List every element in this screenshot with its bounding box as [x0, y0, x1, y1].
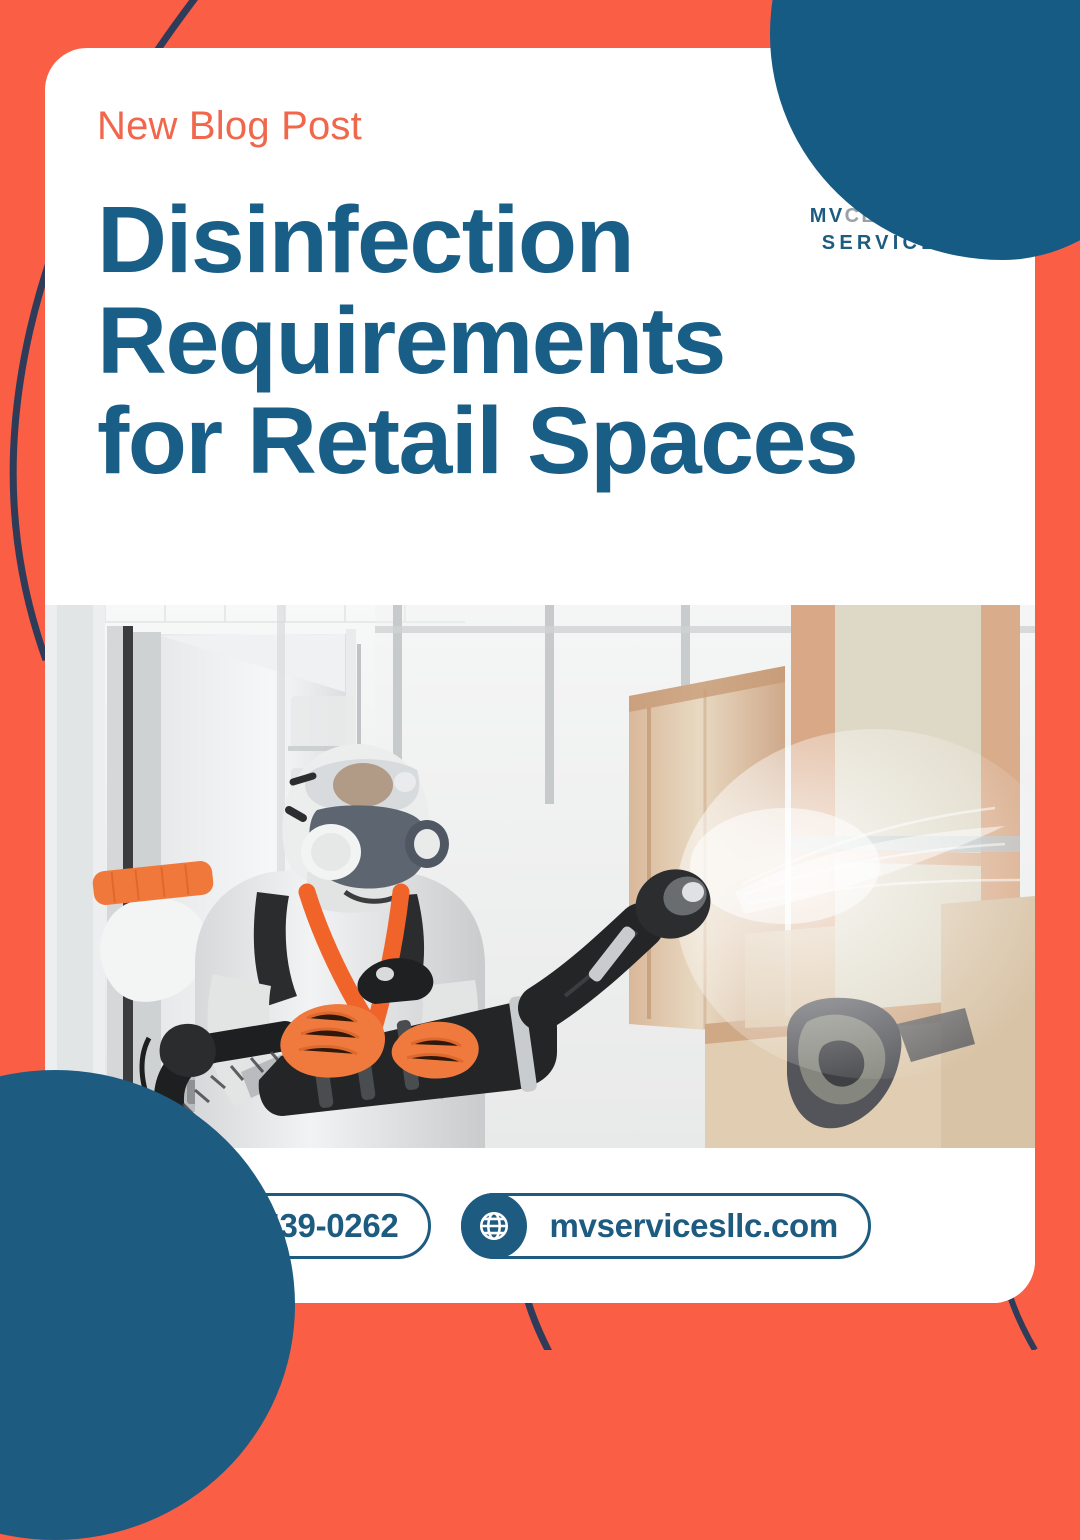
- hero-photo: [45, 605, 1035, 1148]
- website-pill[interactable]: mvservicesllc.com: [461, 1193, 870, 1259]
- globe-icon: [461, 1193, 527, 1259]
- website-url: mvservicesllc.com: [527, 1207, 837, 1245]
- disinfection-worker-illustration: [45, 605, 1035, 1148]
- logo-text-mv: MV: [810, 205, 845, 227]
